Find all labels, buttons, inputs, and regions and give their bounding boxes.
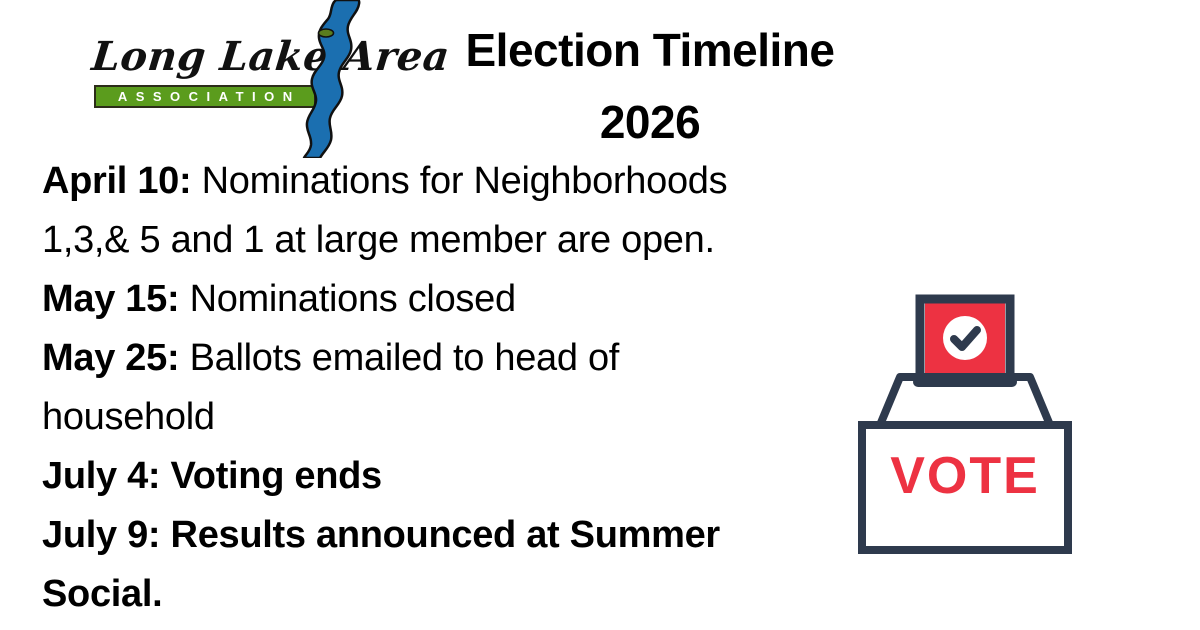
logo-association-text: ASSOCIATION xyxy=(96,87,314,106)
island-icon xyxy=(319,29,334,37)
timeline-line-3: May 15: Nominations closed xyxy=(42,270,842,329)
timeline-text-3: Nominations closed xyxy=(179,278,515,320)
timeline-date-7: July 9: xyxy=(42,514,160,556)
election-timeline-graphic: Long Lake Area ASSOCIATION Election Time… xyxy=(0,0,1200,630)
timeline-line-1: April 10: Nominations for Neighborhoods xyxy=(42,152,842,211)
ballot-box-illustration: VOTE xyxy=(840,285,1090,560)
timeline-line-8: Social. xyxy=(42,565,842,624)
timeline-text-1: Nominations for Neighborhoods xyxy=(191,160,727,202)
timeline-date-1: April 10: xyxy=(42,160,191,202)
timeline-text-7: Results announced at Summer xyxy=(160,514,720,556)
timeline-date-6: July 4: xyxy=(42,455,160,497)
timeline-line-6: July 4: Voting ends xyxy=(42,447,842,506)
vote-label: VOTE xyxy=(890,447,1040,505)
check-circle-icon xyxy=(943,316,987,360)
timeline-text-6: Voting ends xyxy=(160,455,382,497)
title-line-1: Election Timeline xyxy=(400,14,900,86)
timeline-date-3: May 15: xyxy=(42,278,179,320)
timeline-line-4: May 25: Ballots emailed to head of xyxy=(42,329,842,388)
title-line-2: 2026 xyxy=(400,86,900,158)
timeline-line-5: household xyxy=(42,388,842,447)
timeline-date-4: May 25: xyxy=(42,337,179,379)
timeline-text-4: Ballots emailed to head of xyxy=(179,337,619,379)
timeline-text-2: 1,3,& 5 and 1 at large member are open. xyxy=(42,219,715,261)
page-title: Election Timeline 2026 xyxy=(400,14,900,158)
timeline-line-7: July 9: Results announced at Summer xyxy=(42,506,842,565)
long-lake-area-association-logo: Long Lake Area ASSOCIATION xyxy=(88,4,388,156)
timeline-list: April 10: Nominations for Neighborhoods … xyxy=(42,152,842,624)
logo-association-bar: ASSOCIATION xyxy=(94,85,316,108)
ballot-paper-icon xyxy=(920,299,1010,382)
lake-shape-icon xyxy=(290,0,390,158)
timeline-text-5: household xyxy=(42,396,215,438)
timeline-date-8: Social. xyxy=(42,573,162,615)
timeline-line-2: 1,3,& 5 and 1 at large member are open. xyxy=(42,211,842,270)
